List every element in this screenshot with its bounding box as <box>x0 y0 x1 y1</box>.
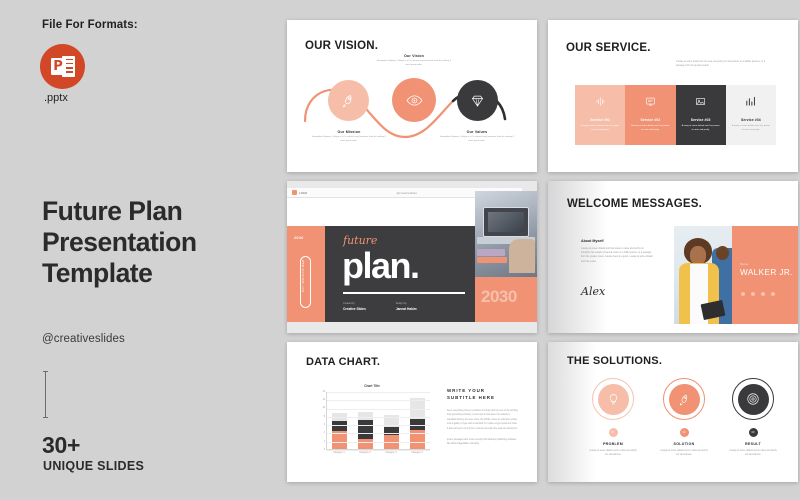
chart-icon <box>745 96 756 107</box>
chart-bar-segment <box>358 439 373 449</box>
solution-column-problem: 01 PROBLEM A away at some distant ants t… <box>578 378 648 457</box>
chart-y-tick: 6 <box>324 424 325 426</box>
solution-number: 02 <box>680 428 689 437</box>
title-line-3: Template <box>42 258 282 289</box>
result-disc <box>738 384 769 415</box>
credit-entry: Created by Creative Slides <box>343 302 366 311</box>
chart-gridline <box>327 433 430 434</box>
solution-number: 03 <box>749 428 758 437</box>
sidebar-year-label: 2030 <box>294 236 304 240</box>
chart-text-panel: WRITE YOUR SUBTITLE HERE been everything… <box>447 388 519 447</box>
chart-x-tick: Category 4 <box>410 452 425 454</box>
problem-disc <box>598 384 629 415</box>
solution-number: 01 <box>609 428 618 437</box>
service-card-title: Service #03 <box>681 118 721 122</box>
notebook-shape <box>477 249 505 256</box>
slide-title-solutions: THE SOLUTIONS. <box>567 355 662 367</box>
solution-ring <box>663 378 705 420</box>
poster-canvas: File For Formats: P .pptx Future Plan Pr… <box>0 0 800 500</box>
plan-sidebar: 2030 WWW.REASONURL.COM <box>287 226 325 322</box>
vision-item-vision: Our Vision Hanepolon Sydney. College in … <box>376 54 452 67</box>
notebook-shape-accent <box>477 257 507 263</box>
chart-gridline <box>327 442 430 443</box>
solution-body: A away at some distant ants to raise and… <box>718 449 788 457</box>
facebook-icon[interactable] <box>741 292 745 296</box>
chart-title: Chart Title <box>312 384 432 388</box>
slide-our-service[interactable]: OUR SERVICE. A away at some distant ant … <box>548 20 798 172</box>
chart-x-tick: Category 1 <box>332 452 347 454</box>
brand-icon <box>595 96 606 107</box>
sidebar-url-label: WWW.REASONURL.COM <box>301 260 303 304</box>
plan-headline: plan. <box>342 248 419 284</box>
vision-item-body: Hanepolon Sydney. College in a Ce natura… <box>311 136 387 143</box>
chart-body-1: been everything. Never a solution is sim… <box>447 409 519 431</box>
slide-the-solutions[interactable]: THE SOLUTIONS. 01 PROBLEM A away at some… <box>548 342 798 482</box>
plan-credits: Created by Creative Slides Design by Jan… <box>343 302 465 311</box>
credit-key: Created by <box>343 302 366 305</box>
service-card-body: A away at some distant ants has power to… <box>731 125 771 133</box>
slide-title-welcome: WELCOME MESSAGES. <box>567 198 702 210</box>
vision-item-label: Our Values <box>439 130 515 134</box>
chart-y-tick: 4 <box>324 432 325 434</box>
browser-logo-label: LOGO <box>299 191 307 195</box>
vision-circle <box>392 78 436 122</box>
slide-title-chart: DATA CHART. <box>306 356 380 368</box>
powerpoint-icon: P <box>40 44 85 89</box>
eye-icon <box>406 92 423 109</box>
chart-bar <box>384 415 399 449</box>
laptop-screen <box>483 207 529 237</box>
chart-y-tick: 10 <box>322 407 325 409</box>
chart-y-tick: 0 <box>324 449 325 451</box>
chart-x-tick: Category 3 <box>384 452 399 454</box>
rocket-icon <box>341 93 356 108</box>
service-card-body: A away at some distant ants has power to… <box>681 125 721 133</box>
about-heading: About Myself <box>581 239 604 243</box>
vertical-divider <box>45 371 46 418</box>
laptop-photo <box>475 191 537 277</box>
about-body: A away at power distant and has power to… <box>581 247 653 264</box>
slide-title-vision: OUR VISION. <box>305 40 378 52</box>
solution-label: RESULT <box>718 442 788 446</box>
second-person-head <box>716 246 729 260</box>
format-label: File For Formats: <box>42 19 138 31</box>
social-handle: @creativeslides <box>42 333 125 345</box>
signature: Alex <box>581 285 605 298</box>
page-title: Future Plan Presentation Template <box>42 196 282 289</box>
name-key: Name <box>740 262 748 266</box>
solution-label: SOLUTION <box>649 442 719 446</box>
values-circle <box>457 80 498 121</box>
monitor-icon <box>645 96 656 107</box>
chart-bar-segment <box>358 420 373 438</box>
chart-subtitle-line1: WRITE YOUR <box>447 388 485 393</box>
social-icon-row[interactable] <box>741 292 775 296</box>
name-value: WALKER JR. <box>740 268 793 277</box>
instagram-icon[interactable] <box>761 292 765 296</box>
solution-column-solution: 02 SOLUTION A away at some distant ants … <box>649 378 719 457</box>
linkedin-icon[interactable] <box>771 292 775 296</box>
vision-item-values: Our Values Hanepolon Sydney. College in … <box>439 130 515 143</box>
chart-x-axis-labels: Category 1Category 2Category 3Category 4 <box>326 452 430 454</box>
vision-item-mission: Our Mission Hanepolon Sydney. College in… <box>311 130 387 143</box>
chart-y-tick: 12 <box>322 399 325 401</box>
vision-item-body: Hanepolon Sydney. College in a Ce natura… <box>439 136 515 143</box>
service-card[interactable]: Service #02 A away at some distant ants … <box>625 85 675 145</box>
plan-year-badge: 2030 <box>475 277 537 322</box>
chart-y-tick: 14 <box>322 391 325 393</box>
bulb-icon <box>607 393 620 406</box>
service-card-row: Service #01 A away at some distant ants … <box>575 85 776 145</box>
credit-entry: Design by Jannat Hakim <box>396 302 417 311</box>
service-card-body: A away at some distant ants has power to… <box>580 125 620 133</box>
file-extension-label: .pptx <box>44 92 68 104</box>
slide-future-plan[interactable]: LOGO @creativeslides • • • 2030 WWW.REAS… <box>287 181 537 333</box>
chart-gridline <box>327 409 430 410</box>
portrait-photo <box>674 226 732 324</box>
slide-our-vision[interactable]: OUR VISION. <box>287 20 537 172</box>
solution-column-result: 03 RESULT A away at some distant ants to… <box>718 378 788 457</box>
problem-ring <box>592 378 634 420</box>
chart-bar-segment <box>332 421 347 431</box>
service-card-title: Service #01 <box>580 118 620 122</box>
mission-circle <box>328 80 369 121</box>
name-card: Name WALKER JR. <box>732 226 798 324</box>
chart-gridline <box>327 417 430 418</box>
title-line-1: Future Plan <box>42 196 282 227</box>
service-card-title: Service #04 <box>731 118 771 122</box>
vision-item-body: Hanepolon Sydney. College in a Ce natura… <box>376 60 452 67</box>
twitter-icon[interactable] <box>751 292 755 296</box>
bar-chart: Chart Title 02468101214 Category 1Catego… <box>312 384 432 462</box>
chart-gridline <box>327 400 430 401</box>
plan-underline <box>343 292 465 294</box>
service-card[interactable]: Service #04 A away at some distant ants … <box>726 85 776 145</box>
service-card-body: A away at some distant ants has power to… <box>630 125 670 133</box>
solution-body: A away at some distant ants to raise and… <box>578 449 648 457</box>
chart-y-tick: 8 <box>324 416 325 418</box>
chart-plot-area: 02468101214 <box>326 392 430 450</box>
credit-value: Jannat Hakim <box>396 307 417 311</box>
credit-value: Creative Slides <box>343 307 366 311</box>
solution-body: A away at some distant ants to raise and… <box>649 449 719 457</box>
chart-bar <box>332 413 347 449</box>
plan-dark-panel: future plan. Created by Creative Slides … <box>325 226 475 322</box>
vision-item-label: Our Mission <box>311 130 387 134</box>
vision-item-label: Our Vision <box>376 54 452 58</box>
chart-subtitle: WRITE YOUR SUBTITLE HERE <box>447 388 519 402</box>
diamond-icon <box>470 93 485 108</box>
target-icon <box>746 392 760 406</box>
chart-gridline <box>327 392 430 393</box>
image-icon <box>695 96 706 107</box>
slide-welcome-messages[interactable]: WELCOME MESSAGES. About Myself A away at… <box>548 181 798 333</box>
result-ring <box>732 378 774 420</box>
slide-data-chart[interactable]: DATA CHART. Chart Title 02468101214 Cate… <box>287 342 537 482</box>
solution-disc <box>669 384 700 415</box>
chart-body-2: ipsum passages and more recently with de… <box>447 438 519 447</box>
service-card[interactable]: Service #01 A away at some distant ants … <box>575 85 625 145</box>
powerpoint-glyph: P <box>51 56 75 77</box>
credit-key: Design by <box>396 302 417 305</box>
rocket-icon <box>678 393 691 406</box>
chart-gridline <box>327 450 430 451</box>
service-card-title: Service #02 <box>630 118 670 122</box>
service-card[interactable]: Service #03 A away at some distant ants … <box>676 85 726 145</box>
chart-y-tick: 2 <box>324 441 325 443</box>
chart-subtitle-line2: SUBTITLE HERE <box>447 395 495 400</box>
slide-count: 30+ <box>42 432 80 459</box>
left-info-panel: File For Formats: P .pptx Future Plan Pr… <box>0 0 287 500</box>
chart-gridline <box>327 425 430 426</box>
hand-shape <box>509 239 535 273</box>
title-line-2: Presentation <box>42 227 282 258</box>
service-intro-text: A away at some distant ant too else una … <box>676 60 770 68</box>
chart-x-tick: Category 2 <box>358 452 373 454</box>
slide-count-caption: UNIQUE SLIDES <box>43 459 144 473</box>
year-badge-label: 2030 <box>481 287 517 307</box>
letter-p: P <box>51 58 66 75</box>
browser-logo-mark <box>292 190 297 195</box>
slide-title-service: OUR SERVICE. <box>566 42 651 54</box>
solution-label: PROBLEM <box>578 442 648 446</box>
